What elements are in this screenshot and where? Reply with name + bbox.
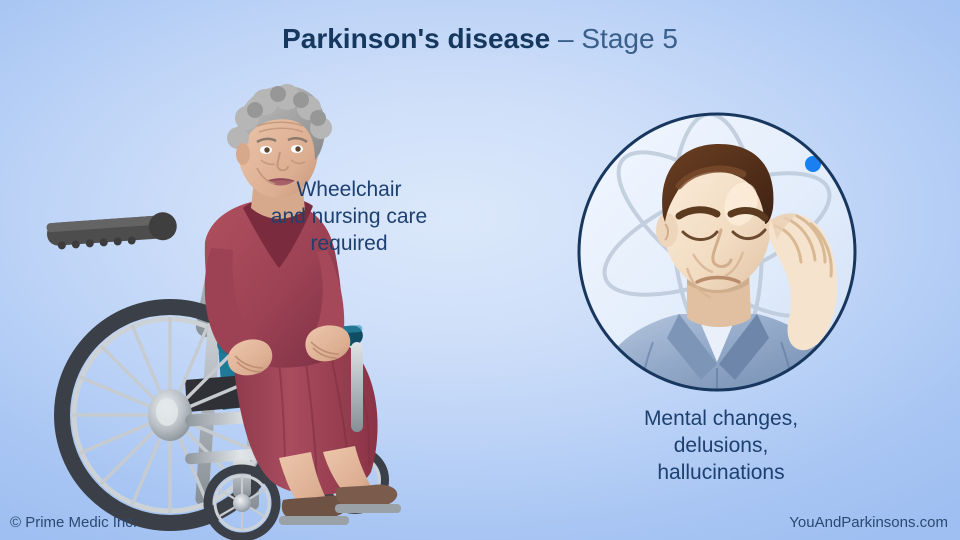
caption-right-line-1: Mental changes, — [610, 405, 832, 432]
woman-legs-and-shoes — [279, 446, 401, 525]
caption-wheelchair: Wheelchair and nursing care required — [262, 176, 436, 257]
website-url[interactable]: YouAndParkinsons.com — [789, 514, 948, 531]
caption-right-line-3: hallucinations — [610, 459, 832, 486]
copyright-notice: © Prime Medic Inc. — [10, 514, 137, 531]
title-stage-part: Stage 5 — [581, 23, 678, 54]
caption-left-line-3: required — [262, 230, 436, 257]
slide-canvas: Parkinson's disease – Stage 5 — [0, 0, 960, 540]
caption-left-line-2: and nursing care — [262, 203, 436, 230]
caption-mental-changes: Mental changes, delusions, hallucination… — [610, 405, 832, 486]
mental-changes-illustration — [575, 112, 860, 397]
page-title: Parkinson's disease – Stage 5 — [0, 22, 960, 56]
wheelchair-illustration — [35, 80, 395, 510]
title-separator: – — [558, 23, 574, 54]
title-bold-part: Parkinson's disease — [282, 23, 550, 54]
caption-left-line-1: Wheelchair — [262, 176, 436, 203]
caption-right-line-2: delusions, — [610, 432, 832, 459]
